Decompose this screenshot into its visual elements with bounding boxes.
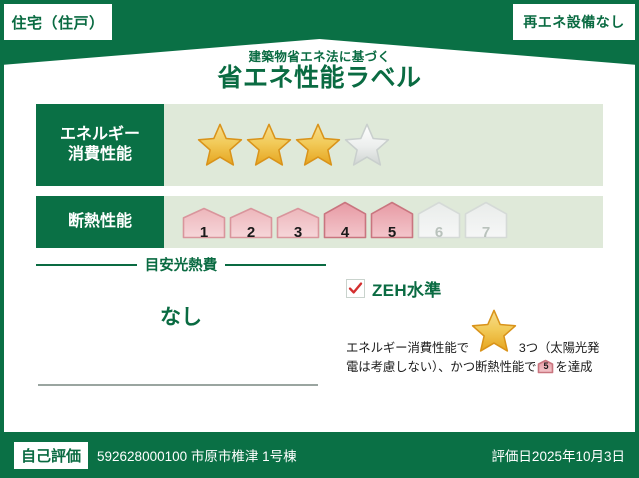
zeh-desc-line1-a: エネルギー消費性能で: [346, 341, 469, 355]
insulation-grade-1: 1: [182, 207, 226, 244]
utility-cost-header: 目安光熱費: [36, 254, 326, 275]
star-icon: [470, 307, 518, 355]
star-icon: [343, 121, 391, 169]
insulation-grade-2: 2: [229, 207, 273, 244]
insulation-grade-5: 5: [370, 201, 414, 244]
renewable-energy-tag: 再エネ設備なし: [513, 4, 635, 40]
zeh-header: ZEH水準: [346, 276, 608, 301]
inline-house-grade: 5: [537, 360, 554, 374]
page-title: 省エネ性能ラベル: [217, 64, 421, 93]
insulation-grade-number: 1: [182, 224, 226, 241]
insulation-grade-3: 3: [276, 207, 320, 244]
energy-performance-value: [164, 104, 603, 186]
insulation-label-line1: 断熱性能: [68, 212, 132, 232]
title-block: 建築物省エネ法に基づく 省エネ性能ラベル: [4, 39, 635, 95]
insulation-performance-label-box: 断熱性能: [36, 196, 164, 248]
insulation-grade-number: 5: [370, 224, 414, 241]
self-evaluation-badge: 自己評価: [14, 442, 88, 469]
star-rating: [196, 121, 391, 169]
insulation-performance-value: 1 2 3 4: [164, 196, 603, 248]
cost-rule-right: [225, 264, 326, 266]
insulation-grade-number: 7: [464, 224, 508, 241]
utility-cost-title: 目安光熱費: [145, 254, 218, 275]
energy-label-line2: 消費性能: [68, 145, 132, 165]
building-type-tag: 住宅（住戸）: [4, 4, 112, 40]
star-icon: [245, 121, 293, 169]
title-subtitle: 建築物省エネ法に基づく: [249, 51, 391, 65]
roof-shape: 建築物省エネ法に基づく 省エネ性能ラベル: [4, 39, 635, 95]
zeh-desc-line2-b: を達成: [555, 360, 592, 374]
building-id-address: 592628000100 市原市椎津 1号棟: [97, 445, 297, 465]
insulation-grade-scale: 1 2 3 4: [182, 201, 508, 244]
renewable-energy-tag-label: 再エネ設備なし: [523, 12, 625, 32]
insulation-grade-6: 6: [417, 201, 461, 244]
section-divider: [38, 384, 318, 386]
zeh-desc-line2-a: は考慮しない）、かつ断熱性能で: [358, 360, 536, 374]
label-card: エネルギー 消費性能: [4, 92, 635, 432]
energy-performance-label: 住宅（住戸） 再エネ設備なし 建築物省エネ法に基づく 省エネ性能ラベル エネルギ…: [0, 0, 639, 478]
insulation-performance-row: 断熱性能 1 2 3: [36, 196, 603, 248]
energy-performance-label-box: エネルギー 消費性能: [36, 104, 164, 186]
check-icon: [346, 279, 365, 298]
star-icon: [196, 121, 244, 169]
footer-bar: 自己評価 592628000100 市原市椎津 1号棟 評価日2025年10月3…: [0, 432, 639, 478]
star-icon: [294, 121, 342, 169]
lower-section: 目安光熱費 なし ZEH水準 エネルギー消費性能で: [4, 254, 635, 432]
insulation-grade-number: 4: [323, 224, 367, 241]
house-icon: 5: [537, 359, 554, 374]
zeh-standard-block: ZEH水準 エネルギー消費性能で 3つ（太陽光発電は考慮しない）、かつ断熱性能で…: [346, 276, 608, 377]
insulation-grade-number: 2: [229, 224, 273, 241]
zeh-description: エネルギー消費性能で 3つ（太陽光発電は考慮しない）、かつ断熱性能で 5を達成: [346, 307, 608, 377]
insulation-grade-number: 6: [417, 224, 461, 241]
energy-label-line1: エネルギー: [60, 125, 140, 145]
building-type-tag-label: 住宅（住戸）: [11, 12, 104, 33]
utility-cost-block: 目安光熱費 なし: [36, 254, 326, 331]
insulation-grade-7: 7: [464, 201, 508, 244]
evaluation-date: 評価日2025年10月3日: [491, 445, 625, 465]
energy-performance-row: エネルギー 消費性能: [36, 104, 603, 186]
cost-rule-left: [36, 264, 137, 266]
utility-cost-value: なし: [36, 301, 326, 331]
zeh-title: ZEH水準: [372, 276, 442, 301]
insulation-grade-number: 3: [276, 224, 320, 241]
insulation-grade-4: 4: [323, 201, 367, 244]
